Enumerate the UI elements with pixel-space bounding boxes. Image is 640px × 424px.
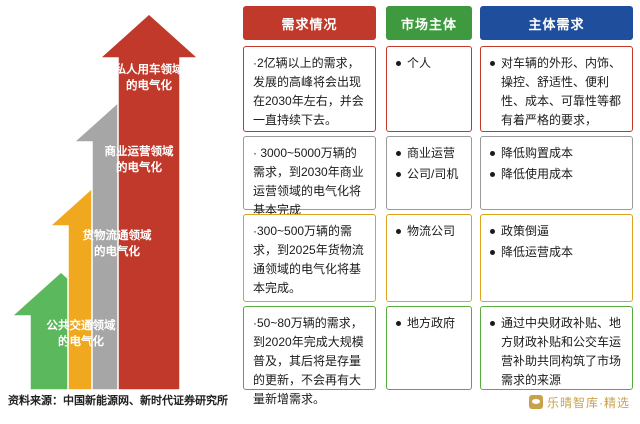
cell-need-2: 降低购置成本 降低使用成本 [480,136,633,210]
cell-demand-3: ·300~500万辆的需求，到2025年货物流通领域的电气化将基本完成。 [243,214,376,302]
header-need: 主体需求 [480,6,633,40]
need-item: 政策倒逼 [490,222,623,241]
cell-need-4: 通过中央财政补贴、地方财政补贴和公交车运营补助共同构筑了市场需求的来源 [480,306,633,390]
need-item: 通过中央财政补贴、地方财政补贴和公交车运营补助共同构筑了市场需求的来源 [490,314,623,390]
cell-need-3: 政策倒逼 降低运营成本 [480,214,633,302]
arrow-label-public-transport: 公共交通领域的电气化 [42,318,120,350]
subject-item: 商业运营 [396,144,462,163]
cell-subject-2: 商业运营 公司/司机 [386,136,472,210]
need-item: 降低使用成本 [490,165,623,184]
subject-item: 地方政府 [396,314,462,333]
cell-subject-3: 物流公司 [386,214,472,302]
diagram-canvas: 私人用车领域的电气化 商业运营领域的电气化 货物流通领域的电气化 公共交通领域的… [0,0,640,424]
need-item: 降低运营成本 [490,243,623,262]
need-item: 对车辆的外形、内饰、操控、舒适性、便利性、成本、可靠性等都有着严格的要求， [490,54,623,130]
cell-demand-2: · 3000~5000万辆的需求，到2030年商业运营领域的电气化将基本完成 [243,136,376,210]
watermark-logo-icon [529,395,543,409]
cell-demand-1: ·2亿辆以上的需求，发展的高峰将会出现在2030年左右，并会一直持续下去。 [243,46,376,132]
watermark: 乐晴智库·精选 [529,394,630,411]
subject-item: 个人 [396,54,462,73]
cell-subject-1: 个人 [386,46,472,132]
cell-demand-4: ·50~80万辆的需求，到2020年完成大规模普及，其后将是存量的更新，不会再有… [243,306,376,390]
arrow-label-logistics: 货物流通领域的电气化 [78,228,156,260]
header-demand: 需求情况 [243,6,376,40]
arrow-label-commercial: 商业运营领域的电气化 [100,144,178,176]
need-item: 降低购置成本 [490,144,623,163]
cell-subject-4: 地方政府 [386,306,472,390]
subject-item: 物流公司 [396,222,462,241]
source-note: 资料来源：中国新能源网、新时代证券研究所 [8,392,228,408]
arrow-label-private-car: 私人用车领域的电气化 [110,62,188,94]
cell-need-1: 对车辆的外形、内饰、操控、舒适性、便利性、成本、可靠性等都有着严格的要求， [480,46,633,132]
subject-item-cont: 公司/司机 [396,165,462,184]
watermark-text: 乐晴智库·精选 [547,396,630,410]
header-subject: 市场主体 [386,6,472,40]
